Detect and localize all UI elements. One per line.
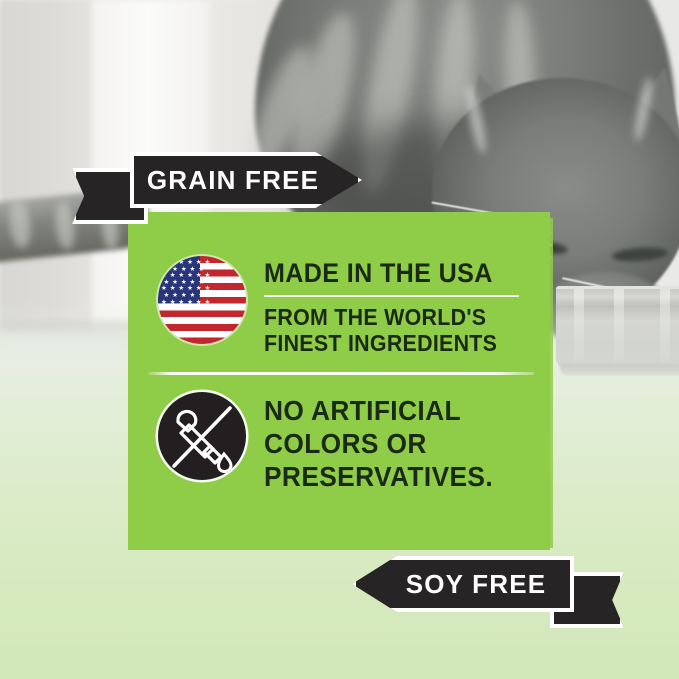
no-artificial-text: NO ARTIFICIAL COLORS OR PRESERVATIVES. <box>264 392 528 493</box>
badge-soy-free: SOY FREE <box>352 556 624 612</box>
made-in-usa-subline-1: FROM THE WORLD'S <box>264 305 510 331</box>
made-in-usa-text: MADE IN THE USA FROM THE WORLD'S FINEST … <box>264 256 528 356</box>
made-in-usa-subline-2: FINEST INGREDIENTS <box>264 331 510 357</box>
feature-card: ★ ★ ★ ★ ★ ★ ★ ★ ★ ★ ★ ★ ★ ★ ★ ★ ★ ★ ★ ★ … <box>128 212 550 550</box>
no-artificial-line-3: PRESERVATIVES. <box>264 460 512 493</box>
usa-flag-circle-icon: ★ ★ ★ ★ ★ ★ ★ ★ ★ ★ ★ ★ ★ ★ ★ ★ ★ ★ ★ ★ … <box>158 256 246 344</box>
made-in-usa-headline: MADE IN THE USA <box>264 258 510 288</box>
product-feature-panel: ★ ★ ★ ★ ★ ★ ★ ★ ★ ★ ★ ★ ★ ★ ★ ★ ★ ★ ★ ★ … <box>0 0 679 679</box>
feature-no-artificial: NO ARTIFICIAL COLORS OR PRESERVATIVES. <box>158 392 528 493</box>
no-artificial-line-2: COLORS OR <box>264 427 512 460</box>
soy-free-label: SOY FREE <box>352 556 574 612</box>
grain-free-label: GRAIN FREE <box>130 152 362 208</box>
no-artificial-line-1: NO ARTIFICIAL <box>264 394 512 427</box>
feature-made-in-usa: ★ ★ ★ ★ ★ ★ ★ ★ ★ ★ ★ ★ ★ ★ ★ ★ ★ ★ ★ ★ … <box>158 256 528 356</box>
headline-rule <box>264 295 519 297</box>
no-dropper-circle-icon <box>158 392 246 480</box>
card-section-divider <box>148 372 534 375</box>
flag-stars: ★ ★ ★ ★ ★ ★ ★ ★ ★ ★ ★ ★ ★ ★ ★ ★ ★ ★ ★ ★ … <box>158 256 246 344</box>
badge-grain-free: GRAIN FREE <box>72 152 362 208</box>
